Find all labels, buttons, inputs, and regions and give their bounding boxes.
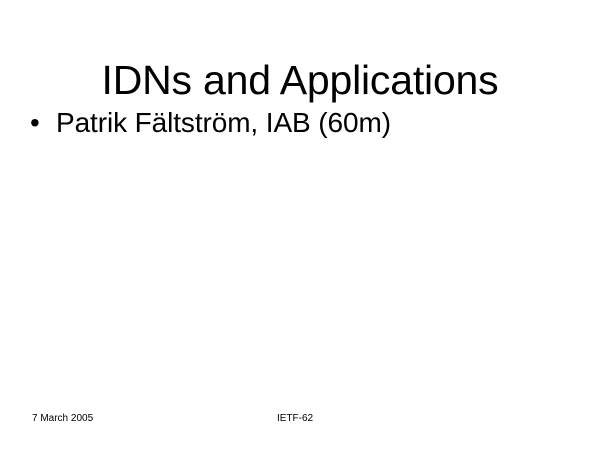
- list-item-label: Patrik Fältström, IAB (60m): [56, 106, 391, 140]
- list-item: • Patrik Fältström, IAB (60m): [30, 106, 575, 140]
- footer-date: 7 March 2005: [32, 412, 93, 426]
- bullet-dot-icon: •: [30, 106, 56, 140]
- page-title: IDNs and Applications: [0, 60, 600, 101]
- slide-body-placeholder: • Patrik Fältström, IAB (60m): [30, 106, 575, 140]
- slide-footer: 7 March 2005 IETF-62: [0, 412, 600, 428]
- presentation-slide: IDNs and Applications • Patrik Fältström…: [0, 0, 600, 450]
- footer-event-label: IETF-62: [277, 412, 313, 426]
